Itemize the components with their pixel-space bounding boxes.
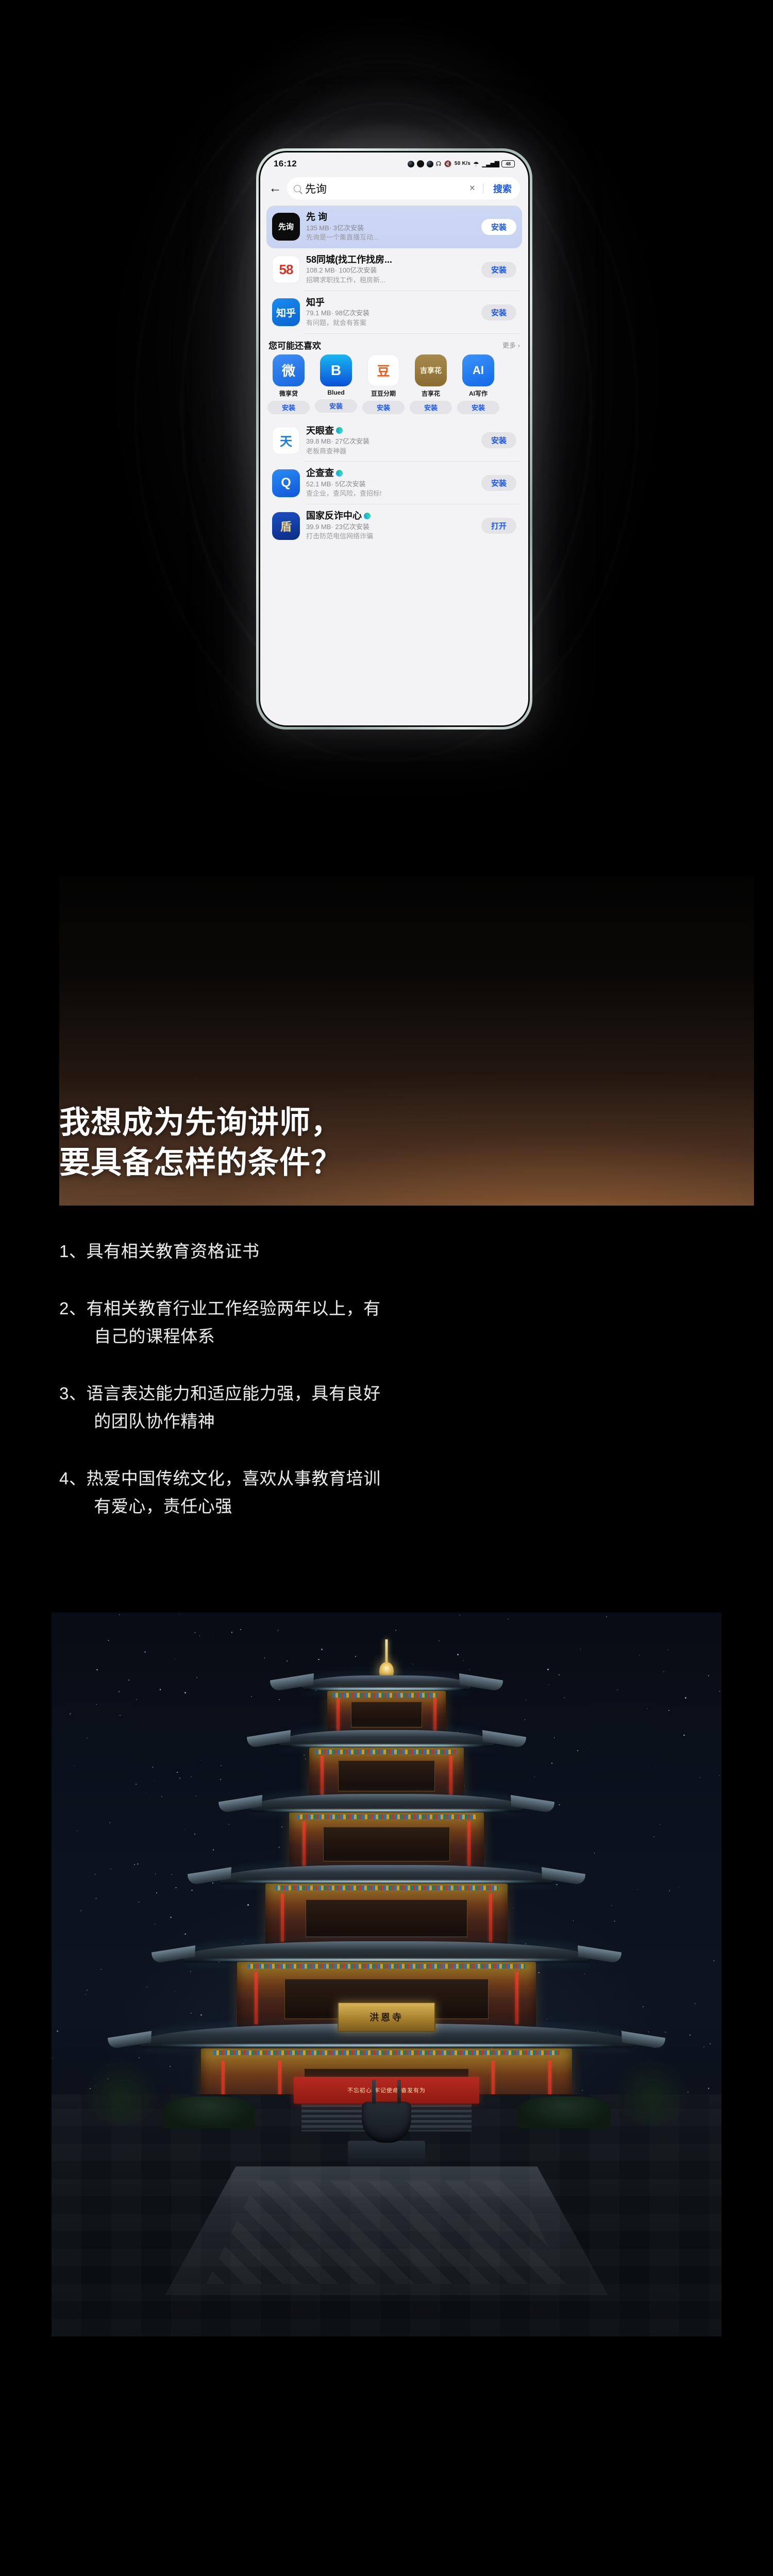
app-icon-weixiangdai: 微: [273, 354, 305, 386]
list-item: 4、热爱中国传统文化，喜欢从事教育培训 有爱心，责任心强: [59, 1465, 654, 1520]
close-icon[interactable]: ×: [466, 183, 479, 194]
app-icon-qichacha: Q: [272, 469, 300, 497]
signal-icon: ▁▃▅▇: [482, 161, 499, 167]
marble-tile-pattern: [206, 2181, 567, 2284]
app-name-text: 国家反诈中心: [306, 511, 362, 521]
chevron-right-icon: ›: [518, 342, 520, 349]
eave-light-tier1: [309, 1688, 464, 1690]
search-input[interactable]: 先询: [305, 181, 462, 196]
app-description: 有问题，就会有答案: [306, 318, 475, 328]
app-name-text: 天眼查: [306, 426, 334, 436]
search-results-list-secondary: 天 天眼查 39.8 MB· 27亿次安装 老板商查神器 安装: [260, 419, 528, 548]
temple-plaque: 洪恩寺: [338, 2002, 435, 2032]
app-icon-aixiezuo: AI: [462, 354, 494, 386]
app-icon-label: 先询: [278, 223, 294, 231]
app-icon-tianyancha: 天: [272, 427, 300, 454]
eave-light-tier6: [160, 2044, 613, 2046]
pagoda-frieze-tier3: [297, 1815, 476, 1819]
list-item[interactable]: B Blued 安装: [315, 354, 357, 414]
vibrate-icon: ☊: [436, 161, 442, 167]
app-name: 豆豆分期: [362, 389, 405, 398]
app-icon-label: 吉享花: [420, 365, 442, 376]
app-name: 先 询: [306, 211, 475, 223]
search-input-container[interactable]: 先询 × 搜索: [287, 177, 520, 199]
pagoda-photo-section: 洪恩寺 不忘初心 牢记使命 奋发有为: [0, 1613, 773, 2336]
app-description: 先询是一个集直播互动...: [306, 233, 475, 243]
camera-dot-icon: [427, 161, 433, 167]
app-size-installs: 39.9 MB· 23亿次安装: [306, 522, 475, 532]
app-icon-label: 盾: [280, 518, 292, 534]
plaque-text: 洪恩寺: [369, 2010, 404, 2024]
app-name: 天眼查: [306, 425, 475, 437]
list-item[interactable]: 微 微享贷 安装: [267, 354, 310, 414]
status-icons: ☊ 🔇 50 K/s ☂ ▁▃▅▇ 48: [408, 160, 515, 167]
phone-screen: 16:12 ☊ 🔇 50 K/s ☂ ▁▃▅▇ 48: [260, 152, 528, 725]
app-icon-xianxun: 先询: [272, 213, 300, 241]
table-row[interactable]: 58 58同城(找工作找房... 108.2 MB· 100亿次安装 招聘求职找…: [266, 248, 522, 291]
slogan-banner: 不忘初心 牢记使命 奋发有为: [294, 2077, 479, 2104]
install-button[interactable]: 安装: [315, 399, 357, 413]
app-name: Blued: [315, 389, 357, 396]
install-button[interactable]: 安装: [410, 401, 452, 414]
app-icon-label: 微: [282, 361, 295, 380]
recommend-title: 您可能还喜欢: [268, 338, 321, 351]
banner-text: 不忘初心 牢记使命 奋发有为: [347, 2086, 426, 2094]
install-button[interactable]: 安装: [267, 401, 310, 414]
camera-dot-icon: [408, 161, 414, 167]
app-meta: 知乎 79.1 MB· 98亿次安装 有问题，就会有答案: [306, 297, 475, 328]
app-icon-label: 知乎: [276, 306, 296, 319]
divider: [483, 183, 483, 194]
table-row[interactable]: 知乎 知乎 79.1 MB· 98亿次安装 有问题，就会有答案 安装: [266, 291, 522, 334]
pagoda-night-image: 洪恩寺 不忘初心 牢记使命 奋发有为: [52, 1613, 721, 2336]
pagoda-frieze-tier1: [332, 1693, 441, 1698]
app-icon-wuba: 58: [272, 256, 300, 283]
list-item[interactable]: AI AI写作 安装: [457, 354, 499, 414]
app-description: 打击防范电信网络诈骗: [306, 532, 475, 541]
phone-hero-section: 16:12 ☊ 🔇 50 K/s ☂ ▁▃▅▇ 48: [0, 0, 773, 876]
more-link[interactable]: 更多 ›: [502, 340, 520, 350]
pagoda-frieze-tier5: [247, 1964, 526, 1969]
status-bar: 16:12 ☊ 🔇 50 K/s ☂ ▁▃▅▇ 48: [260, 152, 528, 175]
pagoda-roof-tier2: [278, 1730, 495, 1745]
eave-light-tier3: [263, 1809, 510, 1811]
verified-badge-icon: [336, 470, 343, 477]
pagoda-frieze-tier2: [315, 1750, 458, 1754]
verified-badge-icon: [336, 427, 343, 434]
tree-right: [613, 2058, 691, 2125]
table-row[interactable]: 天 天眼查 39.8 MB· 27亿次安装 老板商查神器 安装: [266, 419, 522, 462]
pagoda-roof-tier1: [301, 1675, 472, 1689]
verified-badge-icon: [364, 513, 371, 519]
install-button[interactable]: 安装: [481, 475, 516, 491]
app-icon-label: 豆: [377, 361, 390, 380]
app-description: 招聘求职找工作，租房新...: [306, 276, 475, 285]
app-name: 知乎: [306, 297, 475, 309]
app-meta: 国家反诈中心 39.9 MB· 23亿次安装 打击防范电信网络诈骗: [306, 510, 475, 541]
app-name: 国家反诈中心: [306, 510, 475, 522]
app-size-installs: 52.1 MB· 5亿次安装: [306, 479, 475, 489]
list-item: 3、语言表达能力和适应能力强，具有良好 的团队协作精神: [59, 1380, 654, 1435]
app-name: 微享贷: [267, 389, 310, 398]
app-meta: 58同城(找工作找房... 108.2 MB· 100亿次安装 招聘求职找工作，…: [306, 254, 475, 285]
app-icon-label: Q: [281, 476, 291, 490]
wifi-icon: ☂: [473, 161, 479, 167]
phone-bezel: 16:12 ☊ 🔇 50 K/s ☂ ▁▃▅▇ 48: [259, 151, 530, 727]
app-size-installs: 39.8 MB· 27亿次安装: [306, 436, 475, 447]
install-button[interactable]: 安装: [457, 401, 499, 414]
app-size-installs: 79.1 MB· 98亿次安装: [306, 308, 475, 318]
app-name: 企查查: [306, 467, 475, 479]
list-item[interactable]: 吉享花 吉享花 安装: [410, 354, 452, 414]
app-description: 查企业，查风险，查招标!: [306, 489, 475, 499]
list-item: 2、有相关教育行业工作经验两年以上，有 自己的课程体系: [59, 1295, 654, 1350]
hedge-right: [518, 2096, 611, 2128]
app-icon-label: 天: [280, 431, 292, 449]
list-item[interactable]: 豆 豆豆分期 安装: [362, 354, 405, 414]
table-row[interactable]: 盾 国家反诈中心 39.9 MB· 23亿次安装 打击防范电信网络诈骗 打开: [266, 504, 522, 547]
app-name-text: 企查查: [306, 468, 334, 478]
pagoda-body-tier2: [309, 1748, 464, 1797]
app-icon-zhihu: 知乎: [272, 298, 300, 326]
app-meta: 天眼查 39.8 MB· 27亿次安装 老板商查神器: [306, 425, 475, 456]
pagoda-body-tier3: [289, 1812, 484, 1868]
page-title: 我想成为先询讲师， 要具备怎样的条件？: [59, 1103, 342, 1183]
recommend-header: 您可能还喜欢 更多 ›: [260, 334, 528, 353]
pagoda-frieze-tier6: [213, 2050, 560, 2055]
bronze-censer: [362, 2102, 411, 2143]
app-name: 58同城(找工作找房...: [306, 254, 475, 266]
recommend-grid: 微 微享贷 安装 B Blued 安装 豆: [260, 353, 528, 419]
camera-dot-icon: [417, 160, 424, 167]
network-speed-icon: 50 K/s: [455, 161, 470, 166]
app-icon-label: B: [331, 362, 341, 379]
app-icon-jixianghua: 吉享花: [415, 354, 447, 386]
app-size-installs: 108.2 MB· 100亿次安装: [306, 265, 475, 276]
battery-icon: 48: [501, 160, 515, 167]
open-button[interactable]: 打开: [481, 518, 516, 534]
install-button[interactable]: 安装: [481, 262, 516, 278]
install-button[interactable]: 安装: [481, 304, 516, 320]
requirements-list: 1、具有相关教育资格证书 2、有相关教育行业工作经验两年以上，有 自己的课程体系…: [0, 1206, 654, 1520]
app-icon-fanzha: 盾: [272, 512, 300, 540]
phone-mockup: 16:12 ☊ 🔇 50 K/s ☂ ▁▃▅▇ 48: [256, 148, 532, 730]
list-item: 1、具有相关教育资格证书: [59, 1238, 654, 1265]
requirements-section: 我想成为先询讲师， 要具备怎样的条件？ 1、具有相关教育资格证书 2、有相关教育…: [0, 876, 773, 1613]
search-button[interactable]: 搜索: [488, 182, 513, 195]
pagoda-frieze-tier4: [275, 1886, 498, 1890]
mute-icon: 🔇: [444, 161, 452, 167]
app-icon-label: AI: [473, 364, 484, 377]
pagoda-body-tier4: [265, 1884, 508, 1944]
app-icon-blued: B: [320, 354, 352, 386]
app-meta: 企查查 52.1 MB· 5亿次安装 查企业，查风险，查招标!: [306, 467, 475, 499]
search-results-list: 先询 先 询 135 MB· 3亿次安装 先询是一个集直播互动... 安装 58: [260, 206, 528, 334]
eave-light-tier2: [289, 1744, 484, 1747]
hedge-left: [162, 2096, 255, 2128]
back-arrow-icon[interactable]: ←: [266, 182, 284, 195]
status-time: 16:12: [274, 159, 297, 169]
app-name: AI写作: [457, 389, 499, 398]
heading-banner: 我想成为先询讲师， 要具备怎样的条件？: [59, 876, 754, 1206]
app-description: 老板商查神器: [306, 447, 475, 456]
table-row[interactable]: Q 企查查 52.1 MB· 5亿次安装 查企业，查风险，查招标! 安装: [266, 462, 522, 504]
censer-pedestal: [348, 2141, 425, 2166]
tree-left: [82, 2058, 160, 2125]
install-button[interactable]: 安装: [481, 432, 516, 448]
app-name: 吉享花: [410, 389, 452, 398]
search-bar: ← 先询 × 搜索: [260, 175, 528, 206]
app-meta: 先 询 135 MB· 3亿次安装 先询是一个集直播互动...: [306, 211, 475, 243]
app-size-installs: 135 MB· 3亿次安装: [306, 223, 475, 233]
search-icon: [294, 185, 301, 192]
app-icon-label: 58: [279, 262, 293, 278]
install-button[interactable]: 安装: [362, 401, 405, 414]
app-icon-doudou: 豆: [367, 354, 399, 386]
eave-light-tier5: [201, 1959, 572, 1961]
eave-light-tier4: [234, 1880, 539, 1883]
table-row[interactable]: 先询 先 询 135 MB· 3亿次安装 先询是一个集直播互动... 安装: [266, 206, 522, 248]
more-label: 更多: [502, 342, 516, 349]
install-button[interactable]: 安装: [481, 219, 516, 235]
